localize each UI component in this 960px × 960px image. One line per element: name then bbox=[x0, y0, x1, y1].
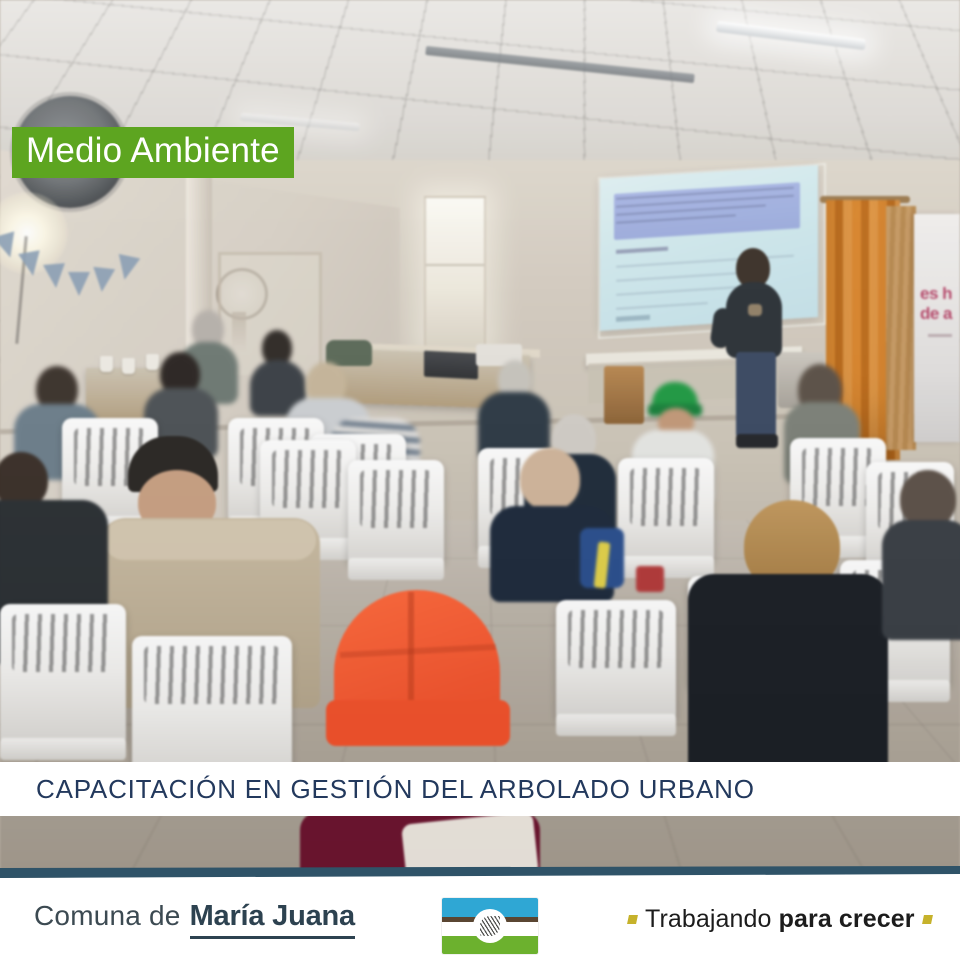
caption-title: CAPACITACIÓN EN GESTIÓN DEL ARBOLADO URB… bbox=[36, 774, 755, 805]
slogan-text: Trabajando para crecer bbox=[645, 905, 915, 934]
social-post-card: es h de a bbox=[0, 0, 960, 960]
bullet-square-left-icon bbox=[627, 915, 638, 924]
bullet-square-right-icon bbox=[922, 915, 933, 924]
slogan-lockup: Trabajando para crecer bbox=[628, 905, 932, 934]
coat-of-arms-emblem bbox=[442, 898, 538, 954]
caption-bar: CAPACITACIÓN EN GESTIÓN DEL ARBOLADO URB… bbox=[0, 762, 960, 816]
emblem-disc bbox=[473, 909, 507, 943]
slogan-bold: para crecer bbox=[779, 905, 915, 933]
wheat-icon bbox=[480, 916, 500, 936]
brand-prefix: Comuna de bbox=[34, 900, 181, 932]
event-photo: es h de a bbox=[0, 0, 960, 878]
category-badge: Medio Ambiente bbox=[12, 127, 294, 178]
slogan-light: Trabajando bbox=[645, 905, 772, 933]
brand-name: María Juana bbox=[190, 900, 355, 939]
brand-lockup: Comuna de María Juana bbox=[34, 900, 355, 939]
